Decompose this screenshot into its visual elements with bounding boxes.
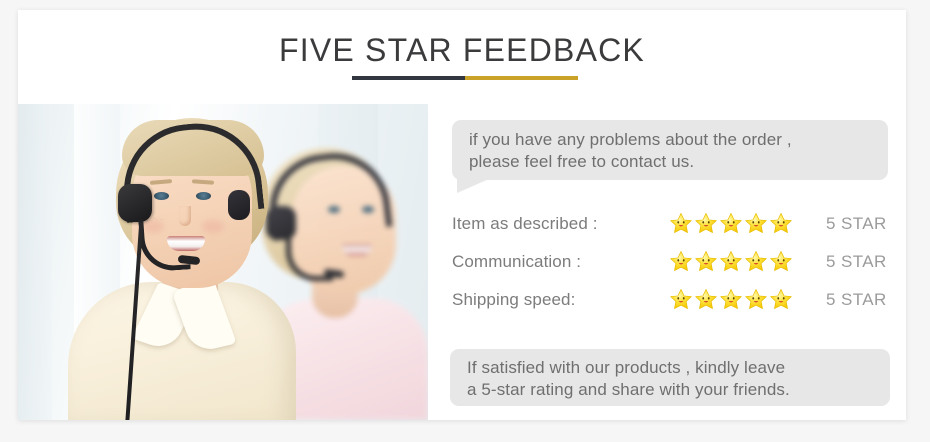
smiley-star-icon — [670, 288, 692, 310]
smiley-star-icon — [670, 250, 692, 272]
star-rating — [670, 210, 800, 236]
title-underline-gold — [465, 76, 578, 80]
rating-row: Shipping speed: 5 STAR — [452, 284, 902, 322]
rating-label: Shipping speed: — [452, 290, 575, 310]
note-line-1: If satisfied with our products , kindly … — [467, 357, 890, 379]
review-request-box: If satisfied with our products , kindly … — [450, 349, 890, 406]
photo-background — [18, 104, 428, 420]
title-underline-dark — [352, 76, 465, 80]
smiley-star-icon — [770, 288, 792, 310]
star-rating — [670, 286, 800, 312]
rating-value: 5 STAR — [826, 214, 887, 234]
headset-earcup-icon — [228, 190, 250, 220]
feedback-card: FIVE STAR FEEDBACK — [18, 10, 906, 420]
headset-earcup-icon — [118, 184, 152, 222]
smiley-star-icon — [770, 250, 792, 272]
smiley-star-icon — [695, 250, 717, 272]
rating-label: Item as described : — [452, 214, 598, 234]
rating-value: 5 STAR — [826, 252, 887, 272]
feedback-details: if you have any problems about the order… — [428, 104, 906, 420]
bubble-line-1: if you have any problems about the order… — [469, 129, 888, 151]
star-rating — [670, 248, 800, 274]
agent-foreground — [66, 114, 298, 420]
page-title: FIVE STAR FEEDBACK — [18, 32, 906, 69]
smiley-star-icon — [695, 212, 717, 234]
smiley-star-icon — [720, 288, 742, 310]
agent-cheek — [202, 220, 224, 233]
speech-bubble-tail — [457, 179, 489, 193]
rating-label: Communication : — [452, 252, 581, 272]
rating-list: Item as described : 5 STAR Communication… — [452, 208, 902, 322]
contact-speech-bubble: if you have any problems about the order… — [452, 120, 888, 180]
smiley-star-icon — [670, 212, 692, 234]
rating-row: Item as described : 5 STAR — [452, 208, 902, 246]
customer-service-photo — [18, 104, 428, 420]
card-header: FIVE STAR FEEDBACK — [18, 10, 906, 104]
smiley-star-icon — [745, 212, 767, 234]
photo-light-band — [18, 104, 52, 420]
agent-mouth — [342, 244, 372, 256]
smiley-star-icon — [720, 250, 742, 272]
rating-row: Communication : 5 STAR — [452, 246, 902, 284]
note-line-2: a 5-star rating and share with your frie… — [467, 379, 890, 401]
rating-value: 5 STAR — [826, 290, 887, 310]
bubble-line-2: please feel free to contact us. — [469, 151, 888, 173]
smiley-star-icon — [745, 250, 767, 272]
smiley-star-icon — [745, 288, 767, 310]
smiley-star-icon — [770, 212, 792, 234]
smiley-star-icon — [720, 212, 742, 234]
smiley-star-icon — [695, 288, 717, 310]
